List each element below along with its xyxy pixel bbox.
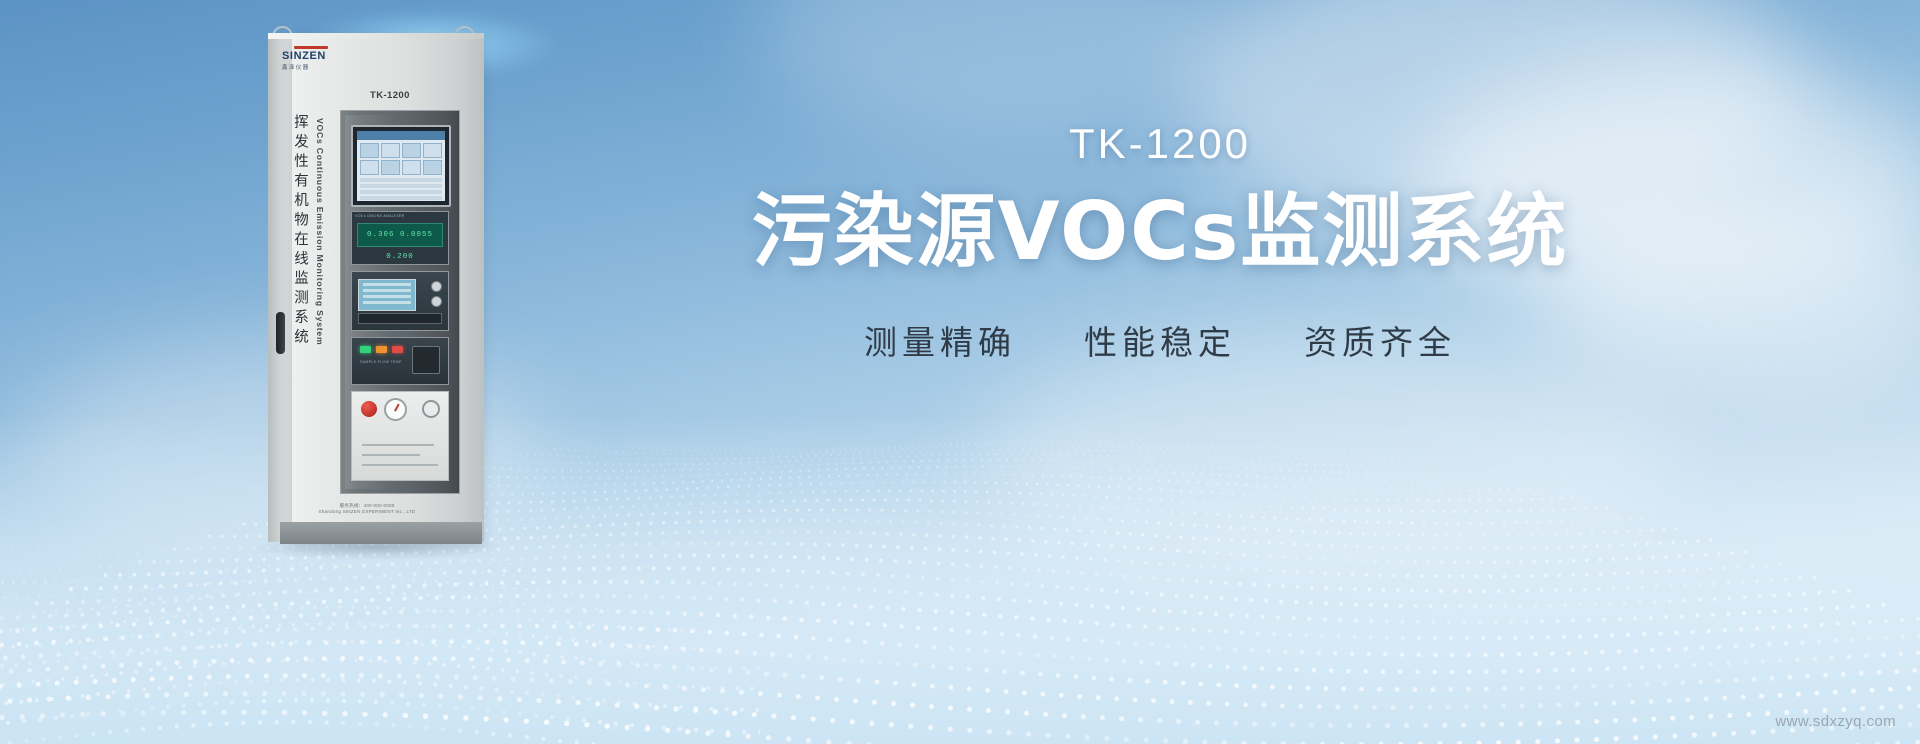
feature-item: 资质齐全	[1304, 316, 1456, 364]
brand-logo: SINZEN 鑫泽仪器	[282, 46, 338, 71]
cloud-decoration	[760, 0, 1220, 140]
emergency-stop-button[interactable]	[359, 399, 379, 419]
flow-valve-knob[interactable]	[422, 400, 440, 418]
gc-display	[358, 279, 416, 311]
hmi-data-row	[360, 196, 442, 200]
status-led-orange	[376, 346, 387, 353]
cabinet-vertical-label-cn: 挥发性有机物在线监测系统	[290, 114, 310, 348]
brand-name: SINZEN	[282, 50, 338, 62]
hmi-tile	[423, 160, 442, 175]
readout-display: 0.306 0.0055 0.200	[357, 223, 443, 247]
pressure-gauge	[384, 398, 407, 421]
brand-name-cn: 鑫泽仪器	[282, 63, 338, 71]
door-handle[interactable]	[276, 312, 285, 354]
hmi-tile	[402, 143, 421, 158]
nameplate-line-2: Shandong SINZEN EXPERIMENT Inc., LTD	[292, 509, 442, 515]
status-indicator-module: SAMPLE FLOW TEMP	[351, 337, 449, 385]
gc-knob	[431, 281, 442, 292]
banner-copy: TK-1200 污染源VOCs监测系统 测量精确 性能稳定 资质齐全	[600, 120, 1720, 364]
status-led-red	[392, 346, 403, 353]
tube	[362, 444, 434, 446]
feature-list: 测量精确 性能稳定 资质齐全	[600, 316, 1720, 364]
tubing-assembly	[358, 438, 442, 472]
pneumatic-module	[351, 391, 449, 481]
analyzer-readout-panel: VOCs ONLINE ANALYZER 0.306 0.0055 0.200 …	[351, 211, 449, 265]
hmi-tile	[360, 143, 379, 158]
feature-item: 测量精确	[864, 316, 1016, 364]
gc-vent-strip	[358, 313, 442, 324]
hmi-tile	[381, 143, 400, 158]
hmi-touchscreen	[351, 125, 451, 207]
cloud-decoration	[980, 330, 1680, 590]
cabinet-base	[280, 522, 482, 544]
cabinet-top-edge	[268, 33, 484, 39]
product-model-number: TK-1200	[600, 120, 1720, 168]
site-watermark: www.sdxzyq.com	[1775, 713, 1896, 730]
hmi-data-rows	[357, 178, 445, 200]
banner-headline: 污染源VOCs监测系统	[600, 186, 1720, 278]
logo-accent-bar	[294, 46, 328, 49]
readout-panel-label: VOCs ONLINE ANALYZER	[352, 212, 448, 218]
gc-knob-group	[431, 281, 442, 311]
gc-knob	[431, 296, 442, 307]
cabinet-nameplate: 服务热线：400-000-0000 Shandong SINZEN EXPERI…	[292, 500, 442, 523]
hmi-tile	[402, 160, 421, 175]
analyzer-cabinet: SINZEN 鑫泽仪器 TK-1200 挥发性有机物在线监测系统 VOCs Co…	[262, 22, 492, 567]
hmi-tile	[381, 160, 400, 175]
gc-module	[351, 271, 449, 331]
hmi-screen-surface	[357, 131, 445, 201]
hmi-data-row	[360, 178, 442, 182]
feature-item: 性能稳定	[1084, 316, 1236, 364]
hmi-title-bar	[357, 131, 445, 140]
hmi-tile-grid	[357, 140, 445, 178]
readout-value: 0.306 0.0055 0.200	[358, 224, 442, 268]
tube	[362, 454, 420, 456]
product-banner: SINZEN 鑫泽仪器 TK-1200 挥发性有机物在线监测系统 VOCs Co…	[0, 0, 1920, 744]
hmi-data-row	[360, 184, 442, 188]
cabinet-model-tag: TK-1200	[370, 90, 410, 101]
cabinet-vertical-label-en: VOCs Continuous Emission Monitoring Syst…	[315, 118, 325, 345]
status-module-label: SAMPLE FLOW TEMP	[360, 360, 402, 364]
hmi-tile	[360, 160, 379, 175]
cabinet-door: VOCs ONLINE ANALYZER 0.306 0.0055 0.200 …	[340, 110, 460, 494]
connector-port	[412, 346, 440, 374]
status-led-green	[360, 346, 371, 353]
hmi-tile	[423, 143, 442, 158]
hmi-data-row	[360, 190, 442, 194]
tube	[362, 464, 438, 466]
